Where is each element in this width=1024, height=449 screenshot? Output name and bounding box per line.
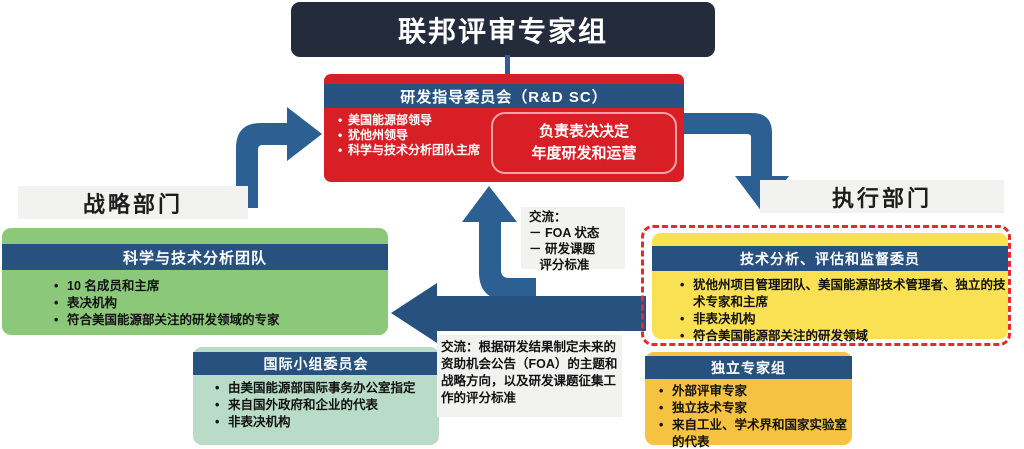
independent-expert-group-header: 独立专家组 <box>645 356 852 379</box>
science-tech-team-bullets: 10 名成员和主席 表决机构 符合美国能源部关注的研发领域的专家 <box>54 278 384 329</box>
list-item: 由美国能源部国际事务办公室指定 <box>215 380 440 397</box>
list-item: 外部评审专家 <box>659 383 854 400</box>
international-subcommittee-box: 国际小组委员会 由美国能源部国际事务办公室指定 来自国外政府和企业的代表 非表决… <box>193 347 439 445</box>
rd-steering-committee-header: 研发指导委员会（R&D SC） <box>324 84 684 108</box>
arrow-strategy-to-rdsc <box>236 107 322 208</box>
list-item: 表决机构 <box>54 295 384 312</box>
note-line-2: － FOA 状态 <box>529 225 623 241</box>
science-tech-team-header: 科学与技术分析团队 <box>2 244 388 270</box>
independent-expert-group-bullets: 外部评审专家 独立技术专家 来自工业、学术界和国家实验室的代表 <box>659 383 854 449</box>
technical-committee-bullets: 犹他州项目管理团队、美国能源部技术管理者、独立的技术专家和主席 非表决机构 符合… <box>680 277 1010 345</box>
duty-line-1: 负责表决决定 <box>539 121 629 143</box>
rd-steering-committee-bullets: 美国能源部领导 犹他州领导 科学与技术分析团队主席 <box>334 113 484 158</box>
technical-committee-box: 技术分析、评估和监督委员 犹他州项目管理团队、美国能源部技术管理者、独立的技术专… <box>652 233 1008 339</box>
rd-steering-committee-box: 研发指导委员会（R&D SC） 美国能源部领导 犹他州领导 科学与技术分析团队主… <box>324 74 684 182</box>
list-item: 美国能源部领导 <box>348 113 484 128</box>
list-item: 符合美国能源部关注的研发领域 <box>680 328 1010 345</box>
rd-steering-committee-duty-box: 负责表决决定 年度研发和运营 <box>491 112 677 174</box>
note-line-3: － 研发课题 <box>529 241 623 257</box>
independent-expert-group-box: 独立专家组 外部评审专家 独立技术专家 来自工业、学术界和国家实验室的代表 <box>645 352 852 445</box>
strategy-section-banner: 战略部门 <box>18 186 248 219</box>
duty-line-2: 年度研发和运营 <box>531 143 636 165</box>
communication-note-bottom: 交流：根据研发结果制定未来的资助机会公告（FOA）的主题和战略方向，以及研发课题… <box>437 335 622 417</box>
list-item: 来自国外政府和企业的代表 <box>215 397 440 414</box>
science-tech-team-box: 科学与技术分析团队 10 名成员和主席 表决机构 符合美国能源部关注的研发领域的… <box>2 228 388 335</box>
execution-section-label: 执行部门 <box>832 181 932 213</box>
technical-committee-header: 技术分析、评估和监督委员 <box>652 246 1008 271</box>
international-subcommittee-bullets: 由美国能源部国际事务办公室指定 来自国外政府和企业的代表 非表决机构 <box>215 380 440 431</box>
list-item: 10 名成员和主席 <box>54 278 384 295</box>
communication-note-top: 交流： － FOA 状态 － 研发课题 评分标准 <box>521 207 625 269</box>
diagram-canvas: 联邦评审专家组 研发指导委员会（R&D SC） 美国能源部领导 犹他州领导 科学… <box>0 0 1024 449</box>
list-item: 来自工业、学术界和国家实验室的代表 <box>659 417 854 449</box>
note-line-4: 评分标准 <box>529 257 623 273</box>
note-line-1: 交流： <box>529 209 623 225</box>
list-item: 非表决机构 <box>680 311 1010 328</box>
international-subcommittee-header: 国际小组委员会 <box>193 352 439 375</box>
strategy-section-label: 战略部门 <box>83 187 183 219</box>
list-item: 非表决机构 <box>215 414 440 431</box>
list-item: 犹他州项目管理团队、美国能源部技术管理者、独立的技术专家和主席 <box>680 277 1010 311</box>
list-item: 符合美国能源部关注的研发领域的专家 <box>54 312 384 329</box>
execution-section-banner: 执行部门 <box>760 180 1004 213</box>
list-item: 独立技术专家 <box>659 400 854 417</box>
list-item: 犹他州领导 <box>348 128 484 143</box>
list-item: 科学与技术分析团队主席 <box>348 143 484 158</box>
